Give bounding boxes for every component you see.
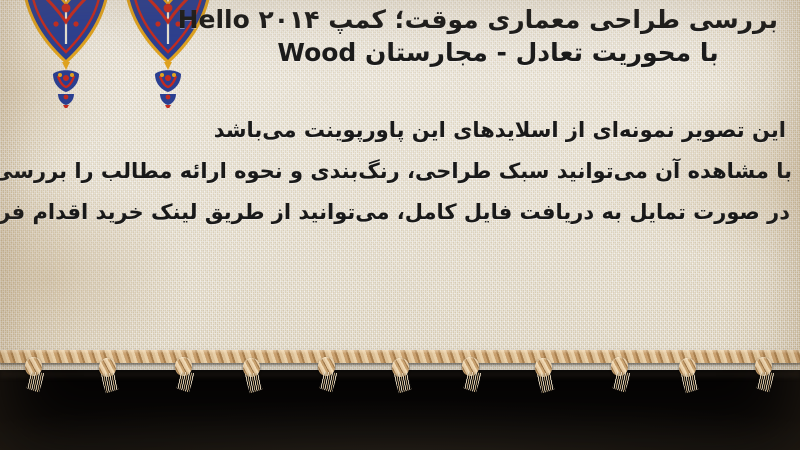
fringe-tassel <box>458 357 484 391</box>
fringe-tassel <box>96 358 122 392</box>
slide-title: بررسی طراحی معماری موقت؛ کمپ Hello ۲۰۱۴ … <box>218 4 778 69</box>
fringe-strands <box>100 372 120 393</box>
fringe-strands <box>393 372 413 393</box>
slide-body-line-1: این تصویر نمونه‌ای از اسلایدهای این پاور… <box>6 110 794 151</box>
carpet-fringe <box>0 348 800 384</box>
fringe-strands <box>244 372 264 393</box>
fringe-tassel <box>676 358 702 392</box>
fringe-tassel <box>314 357 340 391</box>
slide-canvas: بررسی طراحی معماری موقت؛ کمپ Hello ۲۰۱۴ … <box>0 0 800 450</box>
fringe-tassel <box>240 358 266 392</box>
slide-body-line-3: در صورت تمایل به دریافت فایل کامل، می‌تو… <box>6 192 794 233</box>
fringe-tassel <box>751 357 777 391</box>
fringe-tassel <box>607 357 633 391</box>
fringe-tassels <box>0 357 800 387</box>
fringe-tassel <box>389 358 415 392</box>
fringe-strands <box>680 372 700 393</box>
slide-title-line-1: بررسی طراحی معماری موقت؛ کمپ Hello ۲۰۱۴ <box>218 4 778 37</box>
fringe-tassel <box>21 357 47 391</box>
slide-title-line-2: با محوریت تعادل - مجارستان Wood <box>218 37 778 70</box>
fringe-tassel <box>532 358 558 392</box>
slide-body-line-2: با مشاهده آن می‌توانید سبک طراحی، رنگ‌بن… <box>6 151 794 192</box>
fringe-strands <box>537 372 557 393</box>
fringe-tassel <box>171 357 197 391</box>
slide-body: این تصویر نمونه‌ای از اسلایدهای این پاور… <box>6 110 794 233</box>
